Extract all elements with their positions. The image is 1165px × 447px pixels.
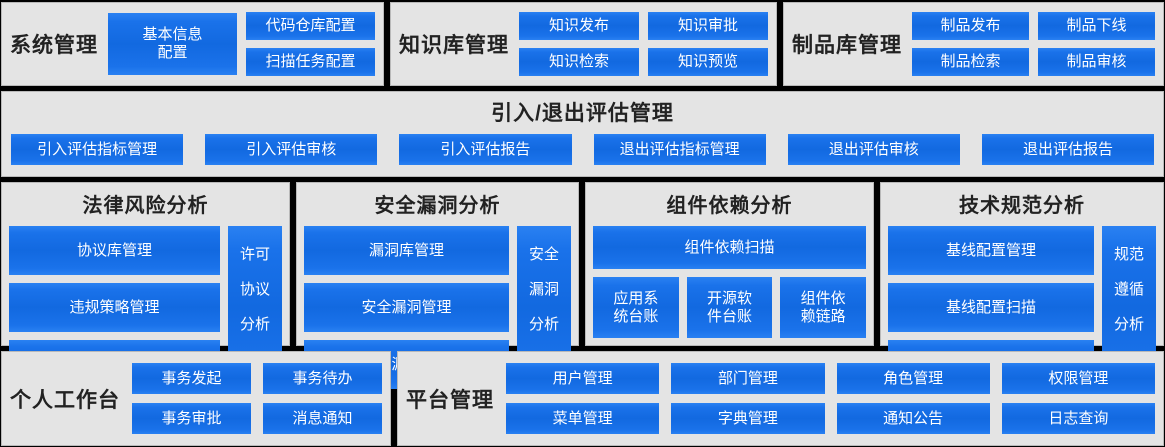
button-component-dependency-chain[interactable]: 组件依 赖链路 xyxy=(780,277,866,338)
dashboard-board: 系统管理 基本信息 配置 代码仓库配置 扫描任务配置 知识库管理 知识发布 知识… xyxy=(0,0,1165,447)
button-column: 制品下线 制品审核 xyxy=(1038,12,1155,76)
button-intro-eval-report[interactable]: 引入评估报告 xyxy=(399,134,571,165)
side-label-line: 安全 xyxy=(529,246,559,264)
button-grid-platform-management: 用户管理 菜单管理 部门管理 字典管理 角色管理 通知公告 权限管理 日志查询 xyxy=(506,363,1155,434)
button-knowledge-publish[interactable]: 知识发布 xyxy=(519,12,639,40)
button-knowledge-search[interactable]: 知识检索 xyxy=(519,48,639,76)
side-label-line: 分析 xyxy=(1114,316,1144,334)
button-task-approval[interactable]: 事务审批 xyxy=(132,403,251,434)
side-label-line: 漏洞 xyxy=(529,281,559,299)
button-permission-management[interactable]: 权限管理 xyxy=(1002,363,1155,394)
button-column: 权限管理 日志查询 xyxy=(1002,363,1155,434)
button-scan-task-config[interactable]: 扫描任务配置 xyxy=(246,48,375,76)
side-label-line: 许可 xyxy=(240,246,270,264)
panel-platform-management: 平台管理 用户管理 菜单管理 部门管理 字典管理 角色管理 通知公告 权限管理 … xyxy=(397,351,1164,446)
panel-system-management: 系统管理 基本信息 配置 代码仓库配置 扫描任务配置 xyxy=(1,2,384,86)
side-label-line: 遵循 xyxy=(1114,281,1144,299)
button-license-library-management[interactable]: 协议库管理 xyxy=(9,226,220,275)
panel-title-legal-risk-analysis: 法律风险分析 xyxy=(83,189,209,218)
panel-legal-risk-analysis: 法律风险分析 协议库管理 违规策略管理 许可协议扫描 许可 协议 分析 报告 xyxy=(1,182,290,346)
button-artifact-search[interactable]: 制品检索 xyxy=(912,48,1029,76)
panel-knowledge-base-management: 知识库管理 知识发布 知识检索 知识审批 知识预览 xyxy=(390,2,777,86)
button-artifact-audit[interactable]: 制品审核 xyxy=(1038,48,1155,76)
button-column: 部门管理 字典管理 xyxy=(671,363,824,434)
button-baseline-config-scan[interactable]: 基线配置扫描 xyxy=(888,283,1094,332)
panel-body-component-dependency: 组件依赖扫描 应用系 统台账 开源软 件台账 组件依 赖链路 xyxy=(593,226,866,338)
panel-title-knowledge-base-management: 知识库管理 xyxy=(399,29,509,59)
button-log-query[interactable]: 日志查询 xyxy=(1002,403,1155,434)
panel-title-component-dependency-analysis: 组件依赖分析 xyxy=(667,189,793,218)
button-message-notification[interactable]: 消息通知 xyxy=(263,403,382,434)
button-grid-knowledge-base: 知识发布 知识检索 知识审批 知识预览 xyxy=(519,12,768,76)
panel-security-vulnerability-analysis: 安全漏洞分析 漏洞库管理 安全漏洞管理 安全漏洞扫描 安全 漏洞 分析 报告 xyxy=(296,182,579,346)
button-code-repo-config[interactable]: 代码仓库配置 xyxy=(246,12,375,40)
row-top-modules: 系统管理 基本信息 配置 代码仓库配置 扫描任务配置 知识库管理 知识发布 知识… xyxy=(1,2,1164,86)
button-basic-info-config[interactable]: 基本信息 配置 xyxy=(108,13,237,75)
panel-title-platform-management: 平台管理 xyxy=(406,384,494,414)
button-column: 制品发布 制品检索 xyxy=(912,12,1029,76)
button-security-vulnerability-management[interactable]: 安全漏洞管理 xyxy=(304,283,509,332)
button-column: 代码仓库配置 扫描任务配置 xyxy=(246,12,375,76)
button-exit-eval-report[interactable]: 退出评估报告 xyxy=(982,134,1154,165)
button-grid-artifact-repository: 制品发布 制品检索 制品下线 制品审核 xyxy=(912,12,1155,76)
button-component-dependency-scan[interactable]: 组件依赖扫描 xyxy=(593,226,866,269)
button-role-management[interactable]: 角色管理 xyxy=(837,363,990,394)
button-column: 角色管理 通知公告 xyxy=(837,363,990,434)
panel-introduce-exit-evaluation: 引入/退出评估管理 引入评估指标管理 引入评估审核 引入评估报告 退出评估指标管… xyxy=(1,91,1164,177)
button-column: 用户管理 菜单管理 xyxy=(506,363,659,434)
row-bottom-modules: 个人工作台 事务发起 事务审批 事务待办 消息通知 平台管理 用户管理 菜单管理 xyxy=(1,351,1164,446)
button-menu-management[interactable]: 菜单管理 xyxy=(506,403,659,434)
button-dictionary-management[interactable]: 字典管理 xyxy=(671,403,824,434)
button-department-management[interactable]: 部门管理 xyxy=(671,363,824,394)
row-evaluation-management: 引入/退出评估管理 引入评估指标管理 引入评估审核 引入评估报告 退出评估指标管… xyxy=(1,91,1164,177)
button-column: 知识发布 知识检索 xyxy=(519,12,639,76)
panel-artifact-repository-management: 制品库管理 制品发布 制品检索 制品下线 制品审核 xyxy=(783,2,1164,86)
button-row-component-ledgers: 应用系 统台账 开源软 件台账 组件依 赖链路 xyxy=(593,277,866,338)
button-column: 知识审批 知识预览 xyxy=(648,12,768,76)
button-notice-announcement[interactable]: 通知公告 xyxy=(837,403,990,434)
button-column: 基本信息 配置 xyxy=(108,13,237,75)
panel-personal-workbench: 个人工作台 事务发起 事务审批 事务待办 消息通知 xyxy=(1,351,391,446)
button-exit-eval-metric-management[interactable]: 退出评估指标管理 xyxy=(594,134,766,165)
button-task-todo[interactable]: 事务待办 xyxy=(263,363,382,394)
button-task-initiate[interactable]: 事务发起 xyxy=(132,363,251,394)
button-vulnerability-library-management[interactable]: 漏洞库管理 xyxy=(304,226,509,275)
button-application-system-ledger[interactable]: 应用系 统台账 xyxy=(593,277,679,338)
button-row-evaluation: 引入评估指标管理 引入评估审核 引入评估报告 退出评估指标管理 退出评估审核 退… xyxy=(2,134,1163,165)
panel-title-introduce-exit-evaluation: 引入/退出评估管理 xyxy=(491,97,674,127)
button-baseline-config-management[interactable]: 基线配置管理 xyxy=(888,226,1094,275)
button-intro-eval-review[interactable]: 引入评估审核 xyxy=(205,134,377,165)
button-grid-system-management: 基本信息 配置 代码仓库配置 扫描任务配置 xyxy=(108,12,375,76)
button-violation-policy-management[interactable]: 违规策略管理 xyxy=(9,283,220,332)
button-exit-eval-review[interactable]: 退出评估审核 xyxy=(788,134,960,165)
side-label-line: 规范 xyxy=(1114,246,1144,264)
panel-title-technical-specification-analysis: 技术规范分析 xyxy=(959,189,1085,218)
button-artifact-publish[interactable]: 制品发布 xyxy=(912,12,1029,40)
panel-title-personal-workbench: 个人工作台 xyxy=(10,384,120,414)
panel-title-security-vulnerability-analysis: 安全漏洞分析 xyxy=(375,189,501,218)
button-column: 事务待办 消息通知 xyxy=(263,363,382,434)
panel-title-system-management: 系统管理 xyxy=(10,29,98,59)
button-knowledge-approval[interactable]: 知识审批 xyxy=(648,12,768,40)
panel-component-dependency-analysis: 组件依赖分析 组件依赖扫描 应用系 统台账 开源软 件台账 组件依 赖链路 xyxy=(585,182,874,346)
side-label-line: 协议 xyxy=(240,281,270,299)
button-open-source-software-ledger[interactable]: 开源软 件台账 xyxy=(687,277,773,338)
button-knowledge-preview[interactable]: 知识预览 xyxy=(648,48,768,76)
button-artifact-offline[interactable]: 制品下线 xyxy=(1038,12,1155,40)
side-label-line: 分析 xyxy=(240,316,270,334)
side-label-line: 分析 xyxy=(529,316,559,334)
button-intro-eval-metric-management[interactable]: 引入评估指标管理 xyxy=(11,134,183,165)
button-column: 事务发起 事务审批 xyxy=(132,363,251,434)
button-grid-personal-workbench: 事务发起 事务审批 事务待办 消息通知 xyxy=(132,363,382,434)
panel-technical-specification-analysis: 技术规范分析 基线配置管理 基线配置扫描 配置差异比对 规范 遵循 分析 报告 xyxy=(880,182,1164,346)
row-analysis-modules: 法律风险分析 协议库管理 违规策略管理 许可协议扫描 许可 协议 分析 报告 xyxy=(1,182,1164,346)
panel-title-artifact-repository-management: 制品库管理 xyxy=(792,29,902,59)
button-user-management[interactable]: 用户管理 xyxy=(506,363,659,394)
